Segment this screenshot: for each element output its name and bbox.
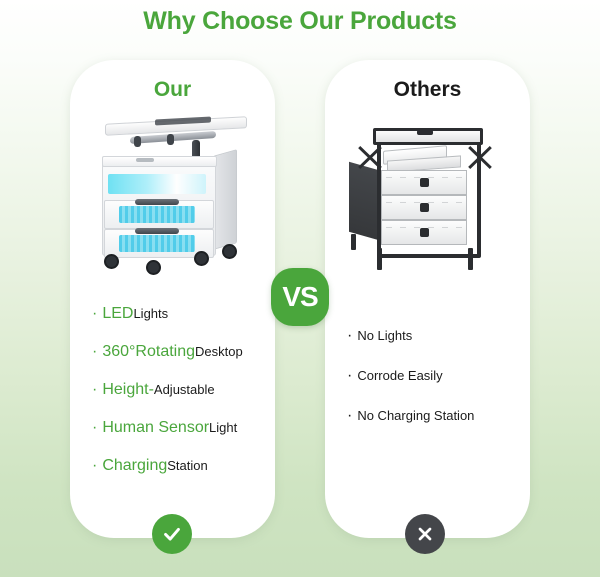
bullet-icon: ·: [92, 306, 97, 322]
feature-item: · Charging Station: [92, 457, 277, 475]
feature-list-others: · No Lights · Corrode Easily · No Chargi…: [347, 328, 532, 448]
feature-highlight: Human Sensor: [102, 419, 209, 437]
bullet-icon: ·: [347, 368, 352, 384]
bullet-icon: ·: [347, 328, 352, 344]
feature-highlight: LED: [102, 305, 133, 323]
page-title: Why Choose Our Products: [0, 0, 600, 42]
feature-item: · Corrode Easily: [347, 368, 532, 384]
comparison-card-our: Our · LED Lights · 360°Rotating Desktop: [70, 60, 275, 538]
feature-rest: No Lights: [357, 328, 412, 343]
feature-highlight: Height-: [102, 381, 154, 399]
feature-rest: Light: [209, 420, 237, 435]
feature-item: · Human Sensor Light: [92, 419, 277, 437]
feature-highlight: Charging: [102, 457, 167, 475]
bullet-icon: ·: [92, 458, 97, 474]
feature-rest: Desktop: [195, 344, 243, 359]
feature-rest: Adjustable: [154, 382, 215, 397]
comparison-card-others: Others · No Lights · Corrode Easily · No…: [325, 60, 530, 538]
bullet-icon: ·: [92, 344, 97, 360]
feature-highlight: 360°Rotating: [102, 343, 195, 361]
product-image-others: [325, 108, 530, 273]
product-image-our: [70, 108, 275, 273]
feature-item: · No Lights: [347, 328, 532, 344]
bullet-icon: ·: [347, 408, 352, 424]
card-heading-others: Others: [325, 78, 530, 102]
feature-item: · 360°Rotating Desktop: [92, 343, 277, 361]
bullet-icon: ·: [92, 420, 97, 436]
bullet-icon: ·: [92, 382, 97, 398]
versus-badge: VS: [271, 268, 329, 326]
feature-rest: Corrode Easily: [357, 368, 442, 383]
cross-icon: [405, 514, 445, 554]
feature-item: · Height- Adjustable: [92, 381, 277, 399]
feature-item: · No Charging Station: [347, 408, 532, 424]
check-icon: [152, 514, 192, 554]
feature-item: · LED Lights: [92, 305, 277, 323]
feature-rest: Lights: [133, 306, 168, 321]
feature-rest: Station: [167, 458, 207, 473]
feature-list-our: · LED Lights · 360°Rotating Desktop · He…: [92, 305, 277, 495]
feature-rest: No Charging Station: [357, 408, 474, 423]
card-heading-our: Our: [70, 78, 275, 102]
